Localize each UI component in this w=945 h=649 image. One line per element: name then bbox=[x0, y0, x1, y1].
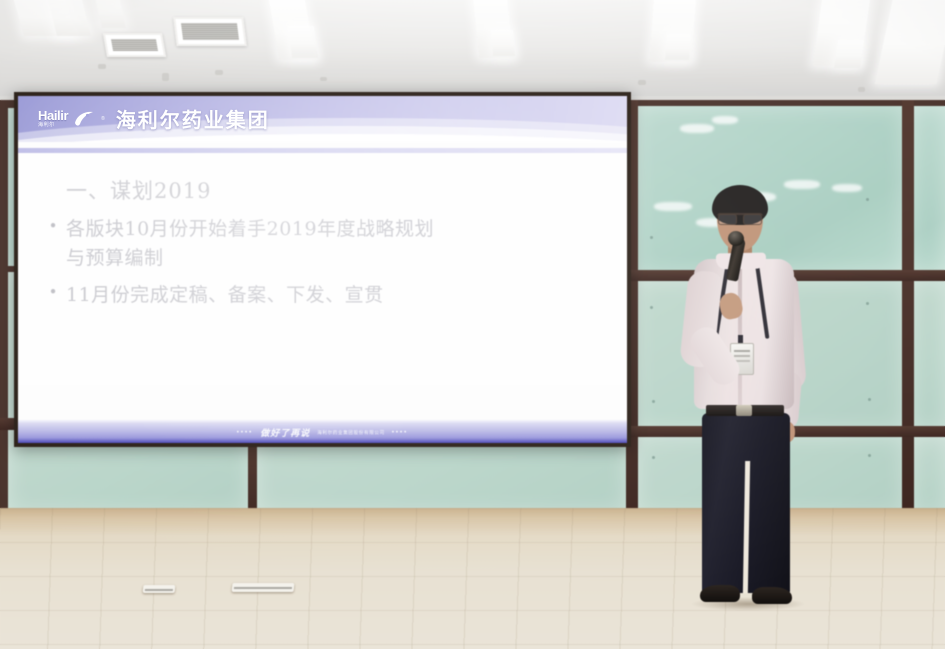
slide-bullet-2: • 11月份完成定稿、备案、下发、宣贯 bbox=[48, 281, 384, 310]
ceiling-air-vent bbox=[173, 17, 247, 46]
ceiling-sensor bbox=[858, 87, 865, 92]
conference-room-photo: Hailir 海利尔 ® 海利尔药业集团 一、谋划2019 • bbox=[0, 0, 945, 649]
glass-panel bbox=[912, 106, 945, 274]
company-name-chinese: 海利尔药业集团 bbox=[116, 104, 270, 133]
ceiling-light-strip bbox=[834, 40, 864, 68]
slide-header-band: Hailir 海利尔 ® 海利尔药业集团 bbox=[18, 96, 627, 142]
panel-fastener bbox=[866, 198, 869, 201]
panel-fastener bbox=[868, 454, 871, 457]
bullet-marker: • bbox=[48, 215, 58, 237]
eyeglass-lens-right bbox=[743, 214, 762, 225]
glass-panel bbox=[912, 436, 945, 514]
footer-dots-left: •••• bbox=[237, 429, 253, 437]
eyeglass-lens-left bbox=[718, 214, 737, 225]
projection-screen[interactable]: Hailir 海利尔 ® 海利尔药业集团 一、谋划2019 • bbox=[18, 96, 627, 443]
ceiling-sensor bbox=[638, 80, 646, 85]
glass-panel bbox=[912, 280, 945, 430]
logo-wordmark: Hailir 海利尔 bbox=[38, 109, 68, 128]
logo-chinese-subtext: 海利尔 bbox=[38, 123, 68, 128]
logo-swoosh-icon bbox=[73, 109, 95, 129]
company-logo: Hailir 海利尔 ® 海利尔药业集团 bbox=[38, 104, 270, 133]
ceiling-sensor bbox=[162, 73, 169, 81]
bullet-line: 与预算编制 bbox=[66, 244, 434, 273]
bullet-line: 11月份完成定稿、备案、下发、宣贯 bbox=[66, 281, 384, 310]
presenter bbox=[660, 185, 830, 625]
bullet-marker: • bbox=[48, 281, 58, 303]
panel-fastener bbox=[650, 306, 653, 309]
registered-trademark-mark: ® bbox=[101, 116, 105, 122]
light-reflection bbox=[712, 116, 738, 124]
wall-mullion-vertical bbox=[902, 100, 914, 520]
ceiling-light-strip bbox=[665, 34, 691, 60]
panel-fastener bbox=[868, 398, 871, 401]
slide-footer-content: •••• 做好了再说 海利尔药业集团股份有限公司 •••• bbox=[18, 426, 627, 439]
slide-body: 一、谋划2019 • 各版块10月份开始着手2019年度战略规划 与预算编制 •… bbox=[18, 153, 627, 385]
light-reflection bbox=[832, 184, 862, 192]
eyeglasses-icon bbox=[717, 213, 763, 224]
ceiling-sensor bbox=[215, 70, 223, 75]
ceiling-light-strip bbox=[491, 30, 515, 56]
slide-title: 一、谋划2019 bbox=[66, 175, 211, 205]
footer-slogan-subtext: 海利尔药业集团股份有限公司 bbox=[317, 430, 385, 436]
ceiling-light-strip bbox=[288, 26, 318, 58]
panel-fastener bbox=[650, 236, 653, 239]
presenter-belt-buckle bbox=[736, 405, 752, 416]
logo-english-text: Hailir bbox=[38, 109, 68, 122]
panel-fastener bbox=[652, 400, 655, 403]
paper-on-floor-2 bbox=[232, 583, 295, 592]
footer-dots-right: •••• bbox=[392, 429, 408, 437]
presenter-left-shoe bbox=[700, 585, 740, 602]
light-reflection bbox=[680, 124, 714, 133]
ceiling-sensor bbox=[320, 77, 327, 81]
footer-slogan: 做好了再说 bbox=[260, 426, 310, 439]
slide-footer-band: •••• 做好了再说 海利尔药业集团股份有限公司 •••• bbox=[18, 419, 627, 443]
panel-fastener bbox=[652, 456, 655, 459]
ceiling-sensor bbox=[98, 64, 106, 69]
slide-bullet-1: • 各版块10月份开始着手2019年度战略规划 与预算编制 bbox=[48, 215, 434, 273]
bullet-line: 各版块10月份开始着手2019年度战略规划 bbox=[66, 215, 434, 244]
panel-fastener bbox=[866, 302, 869, 305]
presenter-right-shoe bbox=[752, 587, 792, 604]
ceiling-air-vent bbox=[103, 33, 166, 57]
paper-on-floor-1 bbox=[143, 585, 176, 593]
